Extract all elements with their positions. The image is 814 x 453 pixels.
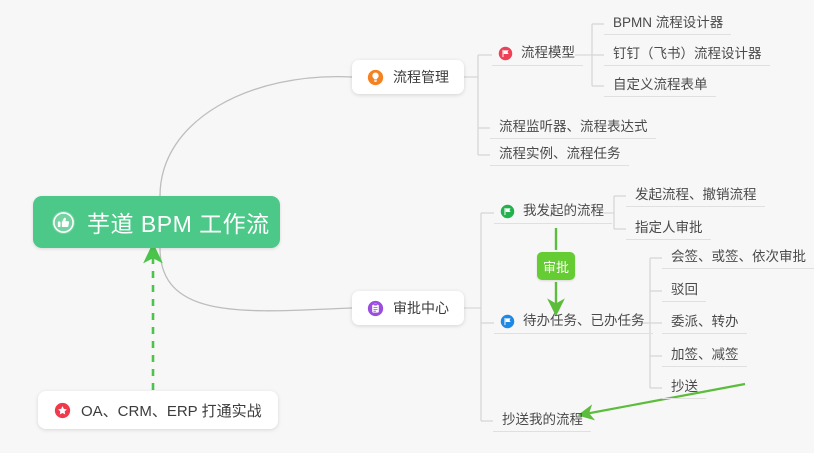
integration-callout-node[interactable]: OA、CRM、ERP 打通实战	[38, 391, 278, 429]
node-custom-process-form[interactable]: 自定义流程表单	[604, 71, 716, 97]
node-label-my-initiated-process: 我发起的流程	[523, 199, 604, 219]
root-label: 芋道 BPM 工作流	[87, 205, 270, 239]
node-label-cc-to-me-process: 抄送我的流程	[502, 408, 583, 428]
node-label-process-model: 流程模型	[521, 41, 575, 61]
node-todo-done-task[interactable]: 待办任务、已办任务	[494, 308, 653, 334]
lightbulb-icon	[367, 69, 384, 86]
node-assignee-approval[interactable]: 指定人审批	[626, 214, 711, 240]
thumbs-up-icon	[51, 210, 76, 235]
node-process-instance-task[interactable]: 流程实例、流程任务	[490, 140, 629, 166]
node-reject[interactable]: 驳回	[662, 276, 706, 302]
node-label-process-listener-expression: 流程监听器、流程表达式	[499, 115, 648, 135]
node-label-todo-done-task: 待办任务、已办任务	[523, 309, 645, 329]
flag-blue-icon	[500, 314, 515, 329]
node-label-dingtalk-feishu-designer: 钉钉（飞书）流程设计器	[613, 42, 762, 62]
clipboard-icon	[367, 300, 384, 317]
node-add-subtract-sign[interactable]: 加签、减签	[662, 341, 747, 367]
node-label-custom-process-form: 自定义流程表单	[613, 73, 708, 93]
edge-root-to-approval-center	[160, 248, 352, 311]
node-start-cancel-process[interactable]: 发起流程、撤销流程	[626, 181, 765, 207]
node-dingtalk-feishu-designer[interactable]: 钉钉（飞书）流程设计器	[604, 40, 770, 66]
node-my-initiated-process[interactable]: 我发起的流程	[494, 198, 612, 224]
node-delegate-transfer[interactable]: 委派、转办	[662, 308, 747, 334]
flag-red-icon	[498, 46, 513, 61]
node-label-carbon-copy: 抄送	[671, 375, 698, 395]
mindmap-canvas: 芋道 BPM 工作流 流程管理 流程模型 BPMN 流程设计器 钉钉	[0, 0, 814, 453]
flag-green-icon	[500, 204, 515, 219]
node-process-listener-expression[interactable]: 流程监听器、流程表达式	[490, 113, 656, 139]
node-countersign-orsign-sequential[interactable]: 会签、或签、依次审批	[662, 243, 814, 269]
node-cc-to-me-process[interactable]: 抄送我的流程	[493, 406, 591, 432]
node-bpmn-designer[interactable]: BPMN 流程设计器	[604, 9, 731, 35]
node-label-bpmn-designer: BPMN 流程设计器	[613, 11, 723, 31]
node-carbon-copy[interactable]: 抄送	[662, 373, 706, 399]
node-process-model[interactable]: 流程模型	[492, 40, 583, 66]
node-label-add-subtract-sign: 加签、减签	[671, 343, 739, 363]
node-label-countersign-orsign-sequential: 会签、或签、依次审批	[671, 245, 806, 265]
node-label-assignee-approval: 指定人审批	[635, 216, 703, 236]
star-icon	[54, 402, 71, 419]
node-label-reject: 驳回	[671, 278, 698, 298]
integration-callout-label: OA、CRM、ERP 打通实战	[81, 400, 262, 421]
approval-pill-label: 审批	[543, 257, 569, 276]
branch-label-process-management: 流程管理	[393, 67, 449, 87]
edge-root-to-process-management	[160, 77, 352, 196]
root-node[interactable]: 芋道 BPM 工作流	[33, 196, 280, 248]
node-label-delegate-transfer: 委派、转办	[671, 310, 739, 330]
branch-node-process-management[interactable]: 流程管理	[352, 60, 464, 94]
branch-label-approval-center: 审批中心	[393, 298, 449, 318]
node-label-process-instance-task: 流程实例、流程任务	[499, 142, 621, 162]
branch-node-approval-center[interactable]: 审批中心	[352, 291, 464, 325]
node-label-start-cancel-process: 发起流程、撤销流程	[635, 183, 757, 203]
approval-pill-badge: 审批	[537, 252, 575, 280]
